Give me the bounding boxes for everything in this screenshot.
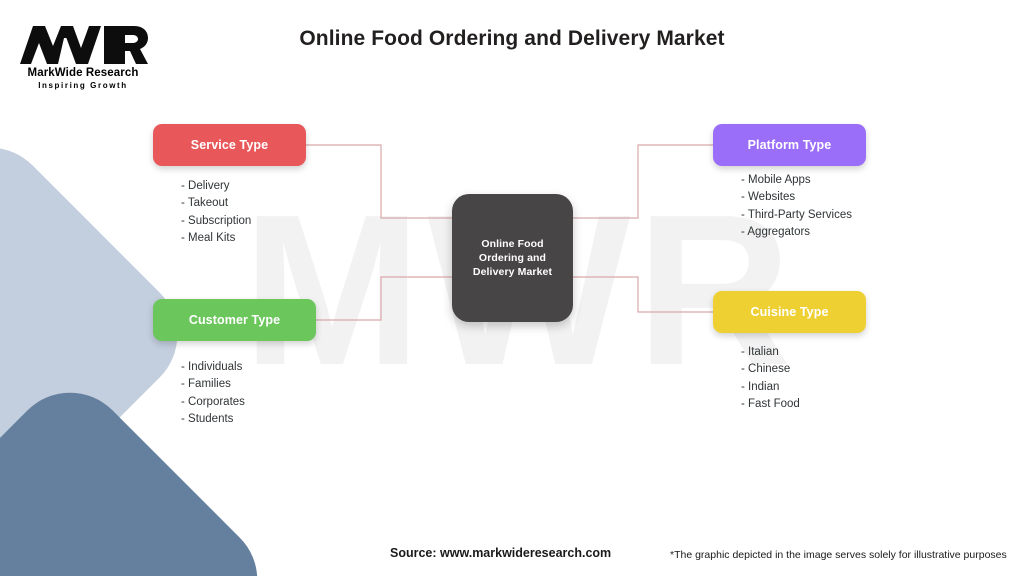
node-platform-type-label: Platform Type	[748, 138, 832, 152]
hub-label: Online Food Ordering and Delivery Market	[473, 237, 552, 280]
list-item: - Corporates	[181, 394, 245, 411]
node-service-type[interactable]: Service Type	[153, 124, 306, 166]
list-item: - Takeout	[181, 195, 251, 212]
list-cuisine-type: - Italian - Chinese - Indian - Fast Food	[741, 344, 800, 414]
infographic-canvas: MWR MarkWide Research Inspiring Growth O…	[0, 0, 1024, 576]
list-item: - Italian	[741, 344, 800, 361]
node-customer-type-label: Customer Type	[189, 313, 280, 327]
list-item: - Third-Party Services	[741, 207, 852, 224]
source-label: Source: www.markwideresearch.com	[390, 546, 611, 560]
node-cuisine-type[interactable]: Cuisine Type	[713, 291, 866, 333]
connector-service-type	[306, 145, 452, 218]
disclaimer-note: *The graphic depicted in the image serve…	[670, 549, 1007, 561]
node-cuisine-type-label: Cuisine Type	[750, 305, 828, 319]
logo-company-name: MarkWide Research	[18, 67, 148, 79]
list-platform-type: - Mobile Apps - Websites - Third-Party S…	[741, 172, 852, 242]
logo-tagline: Inspiring Growth	[18, 81, 148, 90]
list-customer-type: - Individuals - Families - Corporates - …	[181, 359, 245, 429]
list-item: - Websites	[741, 189, 852, 206]
list-item: - Subscription	[181, 213, 251, 230]
node-customer-type[interactable]: Customer Type	[153, 299, 316, 341]
list-item: - Delivery	[181, 178, 251, 195]
list-item: - Indian	[741, 379, 800, 396]
list-item: - Meal Kits	[181, 230, 251, 247]
list-service-type: - Delivery - Takeout - Subscription - Me…	[181, 178, 251, 248]
list-item: - Chinese	[741, 361, 800, 378]
hub-node[interactable]: Online Food Ordering and Delivery Market	[452, 194, 573, 322]
list-item: - Mobile Apps	[741, 172, 852, 189]
connector-platform-type	[573, 145, 713, 218]
page-title: Online Food Ordering and Delivery Market	[0, 27, 1024, 51]
connector-cuisine-type	[573, 277, 713, 312]
list-item: - Aggregators	[741, 224, 852, 241]
list-item: - Families	[181, 376, 245, 393]
node-platform-type[interactable]: Platform Type	[713, 124, 866, 166]
list-item: - Students	[181, 411, 245, 428]
list-item: - Fast Food	[741, 396, 800, 413]
list-item: - Individuals	[181, 359, 245, 376]
node-service-type-label: Service Type	[191, 138, 268, 152]
connector-customer-type	[316, 277, 452, 320]
